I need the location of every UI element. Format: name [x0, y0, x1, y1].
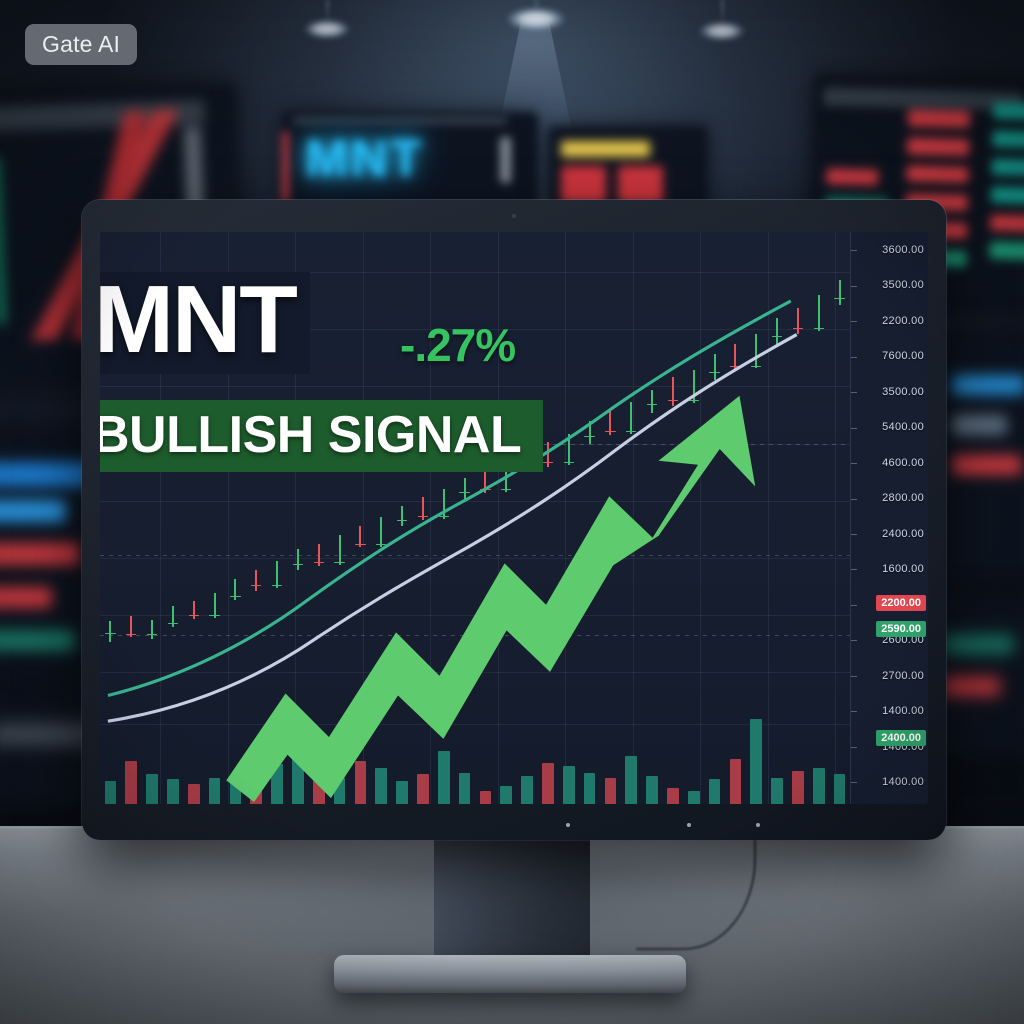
- order-row: [990, 214, 1024, 232]
- order-row: [991, 186, 1024, 204]
- order-row: [0, 630, 75, 652]
- axis-tick-label: 2800.00: [882, 492, 924, 504]
- axis-tick-label: 3500.00: [882, 279, 924, 291]
- axis-tickmark: [851, 640, 857, 641]
- price-axis[interactable]: 3600.003500.002200.007600.003500.005400.…: [850, 232, 928, 804]
- background-monitor-center: MNT: [282, 112, 538, 208]
- order-row: [990, 242, 1024, 260]
- price-badge-sell[interactable]: 2200.00: [876, 595, 926, 611]
- axis-tick-label: 2700.00: [882, 670, 924, 682]
- order-row: [0, 500, 66, 522]
- watermark-badge: Gate AI: [25, 24, 137, 65]
- axis-tick-label: 2400.00: [882, 528, 924, 540]
- axis-tickmark: [851, 463, 857, 464]
- price-badge-buy[interactable]: 2590.00: [876, 621, 926, 637]
- axis-tickmark: [851, 676, 857, 677]
- axis-tickmark: [851, 747, 857, 748]
- axis-tick-label: 2200.00: [882, 315, 924, 327]
- axis-tickmark: [851, 357, 857, 358]
- axis-tickmark: [851, 392, 857, 393]
- order-row: [0, 543, 80, 565]
- axis-tickmark: [851, 286, 857, 287]
- ticker-plate: MNT: [100, 272, 310, 374]
- axis-tickmark: [851, 250, 857, 251]
- axis-tick-label: 7600.00: [882, 350, 924, 362]
- order-row: [993, 131, 1024, 149]
- change-percent: -.27%: [400, 318, 515, 372]
- signal-label: BULLISH SIGNAL: [100, 406, 521, 464]
- axis-tickmark: [851, 534, 857, 535]
- background-monitor-far-right: [940, 330, 1024, 580]
- foreground-monitor: 3600.003500.002200.007600.003500.005400.…: [82, 200, 946, 840]
- axis-tickmark: [851, 605, 857, 606]
- axis-tickmark: [851, 499, 857, 500]
- webcam-icon: [511, 213, 517, 219]
- order-row: [992, 158, 1024, 176]
- bezel-indicator-dots: [82, 823, 946, 828]
- axis-tick-label: 4600.00: [882, 457, 924, 469]
- ceiling-light: [700, 22, 744, 40]
- background-ticker-label: MNT: [305, 137, 459, 181]
- axis-tick-label: 1400.00: [882, 776, 924, 788]
- order-row: [952, 455, 1022, 475]
- order-row: [0, 462, 93, 486]
- order-row: [993, 103, 1024, 121]
- axis-tick-label: 1400.00: [882, 705, 924, 717]
- axis-tick-label: 1600.00: [882, 563, 924, 575]
- order-row: [952, 375, 1024, 395]
- order-block: [618, 166, 663, 203]
- monitor-header-bar: [824, 87, 1023, 111]
- highlight-bar: [561, 141, 651, 158]
- axis-tickmark: [851, 321, 857, 322]
- ticker-symbol: MNT: [100, 276, 296, 364]
- axis-tickmark: [851, 782, 857, 783]
- sidebar-block: [500, 137, 511, 183]
- order-block: [561, 166, 606, 203]
- order-row: [826, 168, 878, 186]
- monitor-stand-base: [334, 955, 686, 993]
- monitor-stand-neck: [434, 840, 590, 972]
- axis-tick-label: 5400.00: [882, 421, 924, 433]
- price-badge-last[interactable]: 2400.00: [876, 730, 926, 746]
- axis-tickmark: [851, 569, 857, 570]
- order-row: [907, 138, 969, 156]
- order-row: [952, 415, 1007, 435]
- axis-tickmark: [851, 428, 857, 429]
- axis-tick-label: 3600.00: [882, 244, 924, 256]
- signal-plate: BULLISH SIGNAL: [100, 400, 543, 472]
- axis-tick-label: 3500.00: [882, 386, 924, 398]
- order-row: [942, 677, 1000, 696]
- ceiling-light: [305, 20, 349, 38]
- order-row: [908, 110, 970, 128]
- axis-tickmark: [851, 711, 857, 712]
- trading-chart-screen[interactable]: 3600.003500.002200.007600.003500.005400.…: [100, 232, 928, 804]
- order-row: [0, 587, 52, 609]
- left-marker: [282, 131, 289, 202]
- order-row: [942, 635, 1014, 654]
- monitor-header-bar: [292, 117, 507, 125]
- order-row: [907, 166, 969, 184]
